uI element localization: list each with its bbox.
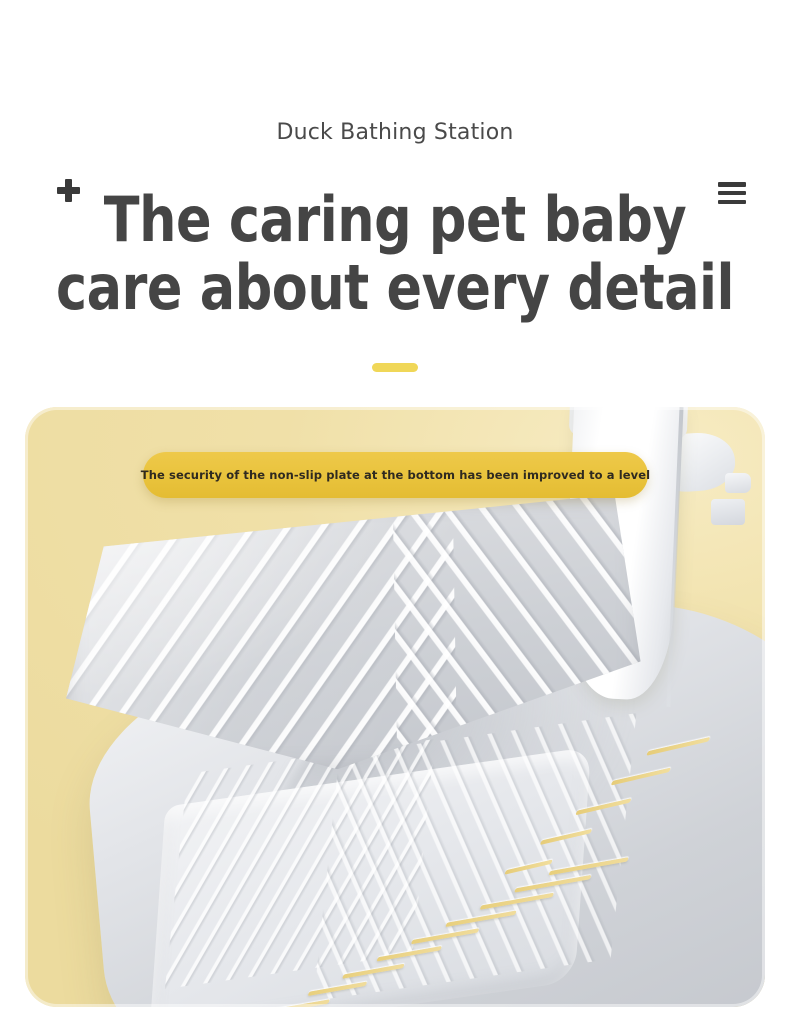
drainage-slot xyxy=(273,999,330,1007)
drainage-slot xyxy=(376,946,442,962)
hero-illustration: The security of the non-slip plate at th… xyxy=(25,407,765,1007)
post-knob xyxy=(725,473,751,493)
drainage-slot xyxy=(504,859,553,874)
brand-subtitle: Duck Bathing Station xyxy=(0,120,790,145)
product-detail-page: Duck Bathing Station The caring pet baby… xyxy=(0,0,790,1026)
drainage-slot xyxy=(342,964,405,979)
post-bracket xyxy=(711,499,745,525)
hero-image-card: The security of the non-slip plate at th… xyxy=(25,407,765,1007)
feature-caption-badge: The security of the non-slip plate at th… xyxy=(143,452,648,498)
drainage-slot xyxy=(445,910,517,927)
drainage-slot xyxy=(575,798,631,815)
drainage-slot xyxy=(611,768,671,786)
divider xyxy=(0,363,790,372)
drainage-slot xyxy=(540,829,593,845)
page-title: The caring pet baby care about every det… xyxy=(24,186,767,322)
feature-caption-text: The security of the non-slip plate at th… xyxy=(141,468,650,482)
drainage-slot xyxy=(411,928,480,944)
divider-bar xyxy=(372,363,418,372)
drainage-slot xyxy=(308,981,368,996)
drainage-slot xyxy=(646,737,710,756)
